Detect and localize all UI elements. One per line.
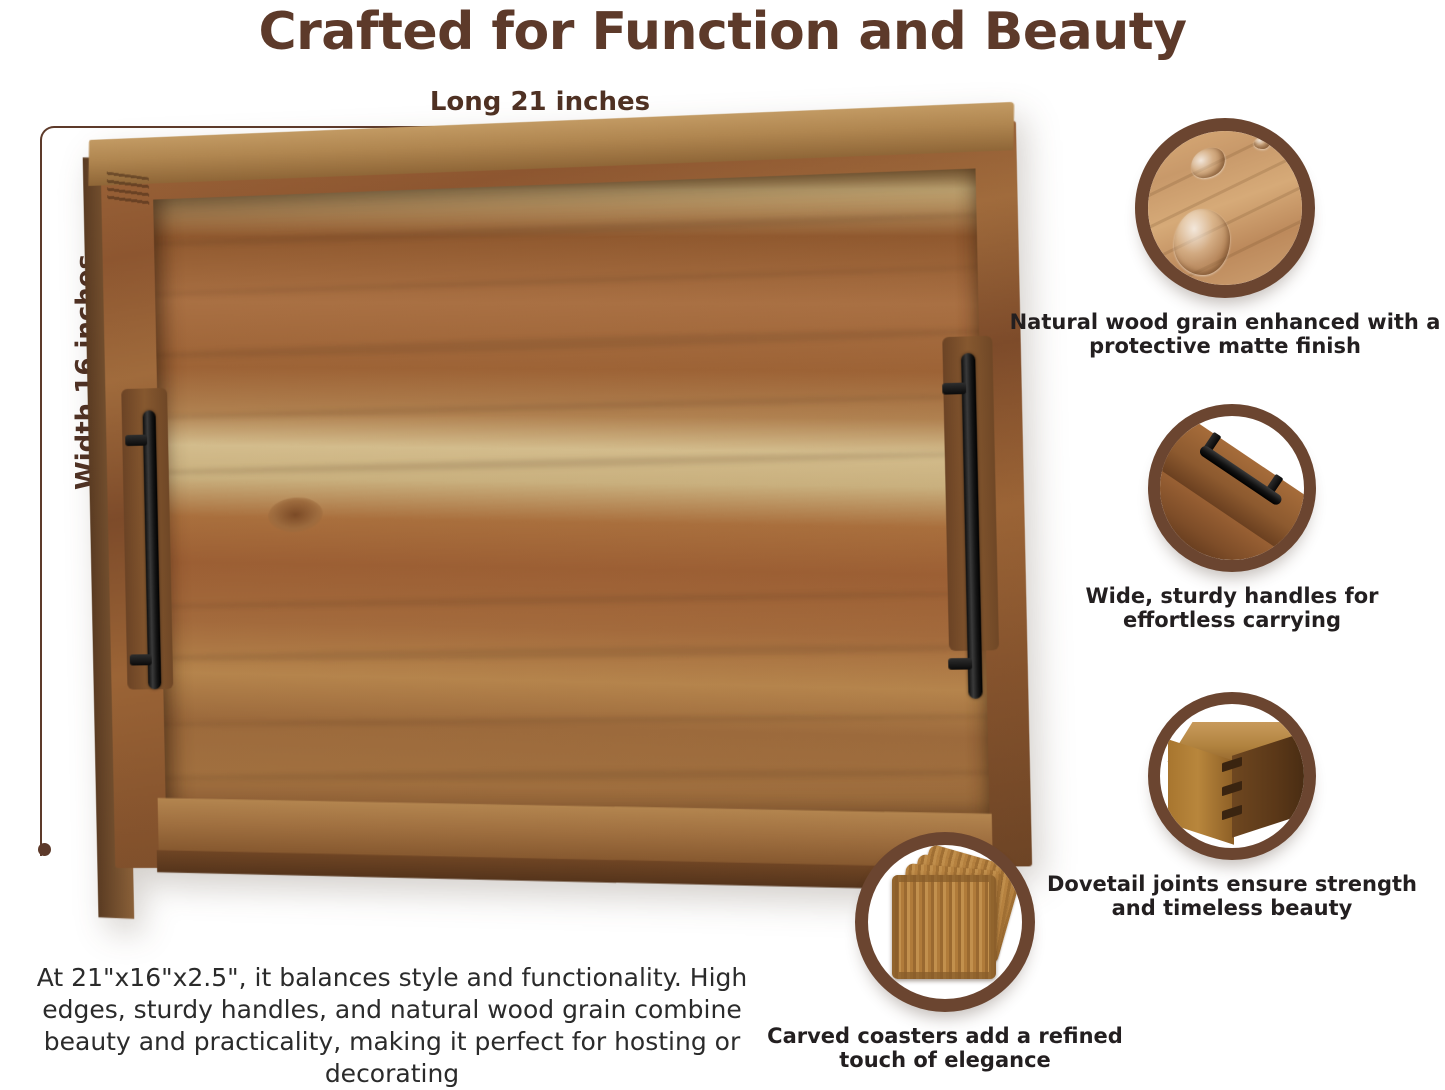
feature-callout-dovetail-joints: Dovetail joints ensure strength and time… bbox=[1148, 692, 1420, 921]
product-image-tray bbox=[90, 140, 1020, 920]
handle-post-icon bbox=[130, 654, 152, 665]
tray-illustration bbox=[82, 102, 1034, 880]
feature-callout-coasters: Carved coasters add a refined touch of e… bbox=[855, 832, 1123, 1073]
feature-caption: Carved coasters add a refined touch of e… bbox=[767, 1024, 1123, 1073]
infographic-page: Crafted for Function and Beauty Long 21 … bbox=[0, 0, 1445, 1089]
page-title: Crafted for Function and Beauty bbox=[0, 2, 1445, 62]
product-description: At 21"x16"x2.5", it balances style and f… bbox=[22, 962, 762, 1090]
feature-callout-handles: Wide, sturdy handles for effortless carr… bbox=[1148, 404, 1432, 633]
black-bar-handle-icon bbox=[1148, 404, 1316, 572]
handle-post-icon bbox=[942, 383, 966, 395]
feature-callout-wood-grain-finish: Natural wood grain enhanced with a prote… bbox=[1135, 118, 1441, 359]
carved-wooden-coasters-icon bbox=[855, 832, 1035, 1012]
handle-post-icon bbox=[948, 658, 972, 670]
tray-dovetail-detail bbox=[107, 172, 150, 208]
water-droplets-on-wood-icon bbox=[1135, 118, 1315, 298]
dovetail-joint-corner-icon bbox=[1148, 692, 1316, 860]
dimension-length-label: Long 21 inches bbox=[340, 87, 740, 117]
tray-interior-shadow bbox=[153, 168, 990, 821]
dimension-endpoint-dot-bottom bbox=[38, 843, 51, 856]
feature-caption: Wide, sturdy handles for effortless carr… bbox=[1032, 584, 1432, 633]
handle-post-icon bbox=[125, 435, 147, 447]
feature-caption: Natural wood grain enhanced with a prote… bbox=[1009, 310, 1441, 359]
